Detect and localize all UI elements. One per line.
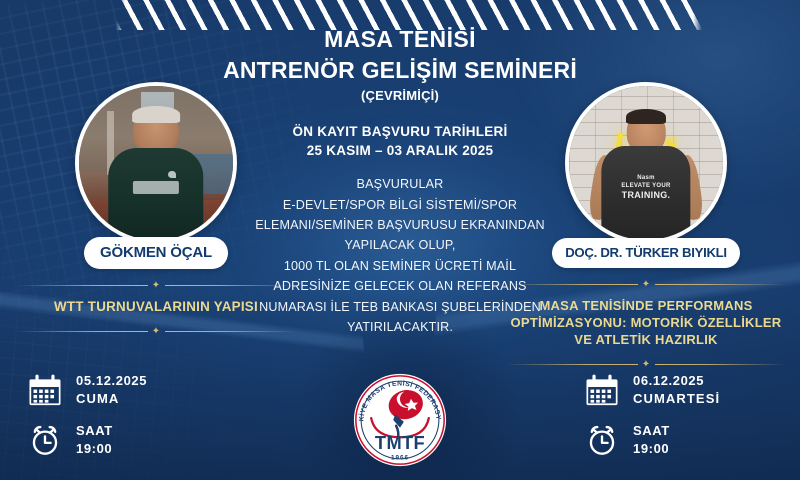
diamond-ornament-icon: ✦ <box>642 360 651 369</box>
session-date-right: 06.12.2025 <box>633 372 720 390</box>
calendar-icon <box>28 373 62 407</box>
alarm-clock-icon <box>28 423 62 457</box>
photo-shirt-print <box>133 181 179 193</box>
session-day-left: CUMA <box>76 390 147 408</box>
session-time-text-right: SAAT 19:00 <box>633 422 670 457</box>
title-line-2: ANTRENÖR GELİŞİM SEMİNERİ <box>200 56 600 84</box>
photo-shirt-line1: ELEVATE YOUR <box>612 183 680 191</box>
speaker-name-left: GÖKMEN ÖÇAL <box>84 237 228 269</box>
session-time-value-right: 19:00 <box>633 440 670 458</box>
speaker-photo-right-image: Let's Move Nasm ELEVATE YOUR TRAINING. <box>569 86 723 240</box>
divider-line-left <box>16 331 148 332</box>
session-date-row-right: 06.12.2025 CUMARTESİ <box>585 372 800 407</box>
speaker-topic-right: MASA TENİSİNDE PERFORMANS OPTİMİZASYONU:… <box>496 297 796 348</box>
speaker-photo-left-image <box>79 86 233 240</box>
session-time-text-left: SAAT 19:00 <box>76 422 113 457</box>
photo-shirt-text: Nasm ELEVATE YOUR TRAINING. <box>612 175 680 201</box>
divider-line-right <box>165 331 297 332</box>
speaker-card-left: GÖKMEN ÖÇAL ✦ WTT TURNUVALARININ YAPISI … <box>6 82 306 338</box>
session-date-text-right: 06.12.2025 CUMARTESİ <box>633 372 720 407</box>
speaker-name-right: DOÇ. DR. TÜRKER BIYIKLI <box>552 238 740 268</box>
session-time-label-left: SAAT <box>76 422 113 440</box>
tmtf-federation-logo: TÜRKİYE MASA TENİSİ FEDERASYONU TMTF 196… <box>352 372 448 468</box>
divider-top-left: ✦ <box>16 279 296 291</box>
alarm-clock-icon <box>585 423 619 457</box>
diamond-ornament-icon: ✦ <box>152 281 161 290</box>
speaker-photo-left <box>75 82 237 244</box>
speaker-card-right: Let's Move Nasm ELEVATE YOUR TRAINING. D… <box>496 82 796 370</box>
poster-root: MASA TENİSİ ANTRENÖR GELİŞİM SEMİNERİ (Ç… <box>0 0 800 480</box>
photo-shirt-brand: Nasm <box>612 175 680 183</box>
photo-person-shirt <box>108 148 203 243</box>
speaker-topic-left: WTT TURNUVALARININ YAPISI <box>6 298 306 316</box>
divider-line-left <box>506 284 638 285</box>
divider-line-right <box>165 285 297 286</box>
session-date-row-left: 05.12.2025 CUMA <box>28 372 298 407</box>
session-time-value-left: 19:00 <box>76 440 113 458</box>
divider-bottom-left: ✦ <box>16 326 296 338</box>
logo-acronym: TMTF <box>375 432 425 453</box>
diamond-ornament-icon: ✦ <box>152 327 161 336</box>
session-time-row-right: SAAT 19:00 <box>585 422 800 457</box>
divider-top-right: ✦ <box>506 278 786 290</box>
photo-person-hair <box>626 109 666 124</box>
photo-shirt-emblem <box>168 171 176 179</box>
session-info-left: 05.12.2025 CUMA SAAT 19:00 <box>28 372 298 472</box>
photo-person-hair <box>132 106 180 123</box>
logo-year: 1966 <box>391 454 409 461</box>
divider-line-right <box>655 284 787 285</box>
title-line-1: MASA TENİSİ <box>200 26 600 53</box>
session-day-right: CUMARTESİ <box>633 390 720 408</box>
session-info-right: 06.12.2025 CUMARTESİ SAAT 19:00 <box>585 372 800 472</box>
calendar-icon <box>585 373 619 407</box>
speaker-photo-right: Let's Move Nasm ELEVATE YOUR TRAINING. <box>565 82 727 244</box>
session-date-left: 05.12.2025 <box>76 372 147 390</box>
session-date-text-left: 05.12.2025 CUMA <box>76 372 147 407</box>
divider-line-left <box>16 285 148 286</box>
diamond-ornament-icon: ✦ <box>642 280 651 289</box>
session-time-row-left: SAAT 19:00 <box>28 422 298 457</box>
divider-line-right <box>655 364 787 365</box>
divider-bottom-right: ✦ <box>506 358 786 370</box>
photo-shirt-line2: TRAINING. <box>612 190 680 201</box>
session-time-label-right: SAAT <box>633 422 670 440</box>
divider-line-left <box>506 364 638 365</box>
